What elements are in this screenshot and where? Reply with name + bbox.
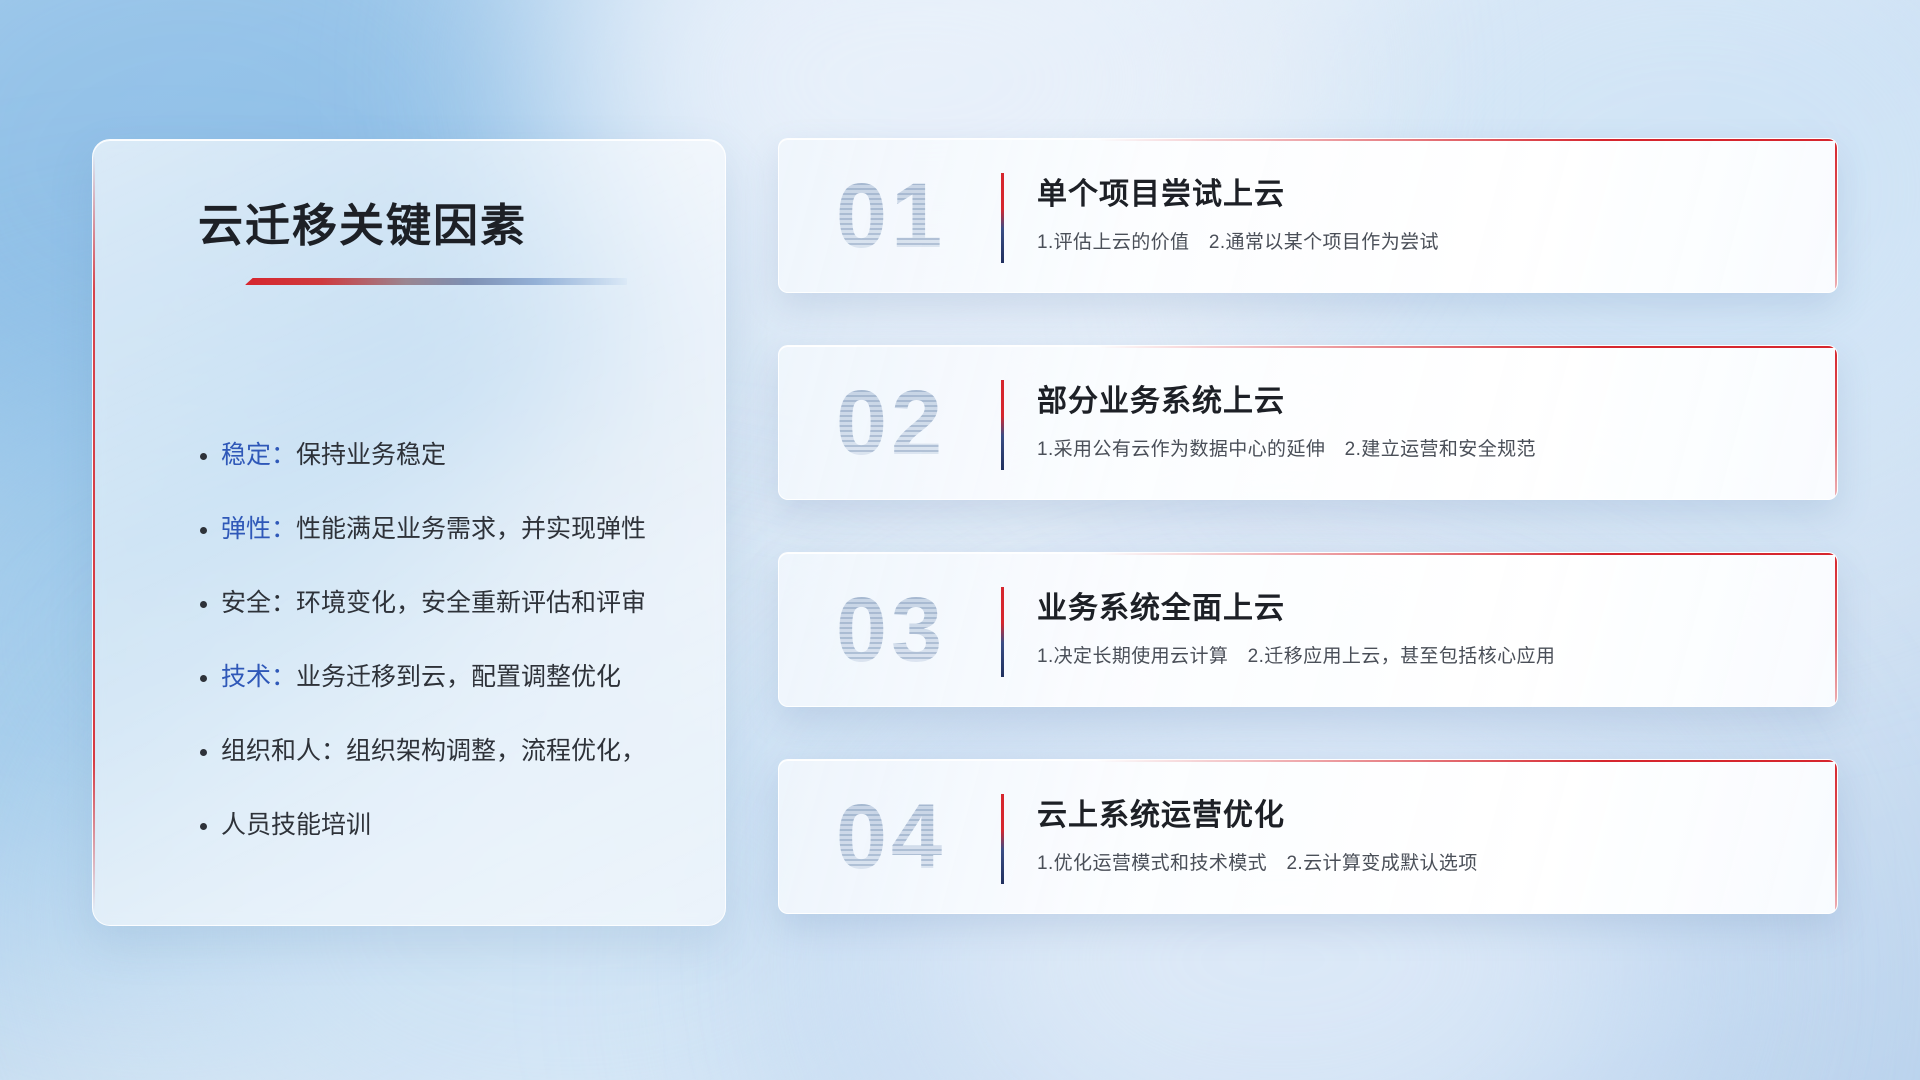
factor-value: 人员技能培训 <box>221 811 371 839</box>
factor-value: 环境变化，安全重新评估和评审 <box>296 589 646 617</box>
factor-value: 业务迁移到云，配置调整优化 <box>296 663 621 691</box>
stage-divider-bar <box>1001 794 1004 884</box>
stage-number: 03 <box>811 567 971 693</box>
factor-item: 稳定：保持业务稳定 <box>221 418 691 492</box>
factor-item: 弹性：性能满足业务需求，并实现弹性 <box>221 492 691 566</box>
stage-number: 01 <box>811 153 971 279</box>
stage-card-body: 业务系统全面上云1.决定长期使用云计算 2.迁移应用上云，甚至包括核心应用 <box>1037 583 1797 668</box>
stage-card-body: 单个项目尝试上云1.评估上云的价值 2.通常以某个项目作为尝试 <box>1037 169 1797 254</box>
slide-stage: 云迁移关键因素 稳定：保持业务稳定弹性：性能满足业务需求，并实现弹性安全：环境变… <box>0 0 1920 1080</box>
stage-card[interactable]: 04云上系统运营优化1.优化运营模式和技术模式 2.云计算变成默认选项 <box>778 759 1838 914</box>
stage-divider-bar <box>1001 587 1004 677</box>
stage-card-body: 云上系统运营优化1.优化运营模式和技术模式 2.云计算变成默认选项 <box>1037 790 1797 875</box>
stage-divider-bar <box>1001 173 1004 263</box>
title-underline-rule <box>245 278 627 285</box>
key-factors-panel: 云迁移关键因素 稳定：保持业务稳定弹性：性能满足业务需求，并实现弹性安全：环境变… <box>92 139 726 926</box>
stage-title: 云上系统运营优化 <box>1037 790 1797 834</box>
stage-description: 1.评估上云的价值 2.通常以某个项目作为尝试 <box>1037 227 1797 254</box>
factor-label: 技术： <box>221 663 296 691</box>
stage-card-body: 部分业务系统上云1.采用公有云作为数据中心的延伸 2.建立运营和安全规范 <box>1037 376 1797 461</box>
factor-item: 人员技能培训 <box>221 788 691 862</box>
stage-description: 1.采用公有云作为数据中心的延伸 2.建立运营和安全规范 <box>1037 434 1797 461</box>
stage-description: 1.决定长期使用云计算 2.迁移应用上云，甚至包括核心应用 <box>1037 641 1797 668</box>
stage-description: 1.优化运营模式和技术模式 2.云计算变成默认选项 <box>1037 848 1797 875</box>
stage-divider-bar <box>1001 380 1004 470</box>
factor-list: 稳定：保持业务稳定弹性：性能满足业务需求，并实现弹性安全：环境变化，安全重新评估… <box>221 418 691 862</box>
factor-item: 组织和人：组织架构调整，流程优化， <box>221 714 691 788</box>
stage-card-list: 01单个项目尝试上云1.评估上云的价值 2.通常以某个项目作为尝试02部分业务系… <box>778 138 1838 966</box>
factor-value: 保持业务稳定 <box>296 441 446 469</box>
stage-card[interactable]: 03业务系统全面上云1.决定长期使用云计算 2.迁移应用上云，甚至包括核心应用 <box>778 552 1838 707</box>
stage-card[interactable]: 02部分业务系统上云1.采用公有云作为数据中心的延伸 2.建立运营和安全规范 <box>778 345 1838 500</box>
factor-label: 安全： <box>221 589 296 617</box>
stage-number: 02 <box>811 360 971 486</box>
stage-title: 部分业务系统上云 <box>1037 376 1797 420</box>
factor-item: 安全：环境变化，安全重新评估和评审 <box>221 566 691 640</box>
factor-label: 弹性： <box>221 515 296 543</box>
stage-number: 04 <box>811 774 971 900</box>
factor-label: 稳定： <box>221 441 296 469</box>
factor-item: 技术：业务迁移到云，配置调整优化 <box>221 640 691 714</box>
factor-value: 性能满足业务需求，并实现弹性 <box>296 515 646 543</box>
stage-card[interactable]: 01单个项目尝试上云1.评估上云的价值 2.通常以某个项目作为尝试 <box>778 138 1838 293</box>
factor-label: 组织和人： <box>221 737 346 765</box>
stage-title: 业务系统全面上云 <box>1037 583 1797 627</box>
panel-title: 云迁移关键因素 <box>198 189 527 254</box>
factor-value: 组织架构调整，流程优化， <box>346 737 646 765</box>
stage-title: 单个项目尝试上云 <box>1037 169 1797 213</box>
